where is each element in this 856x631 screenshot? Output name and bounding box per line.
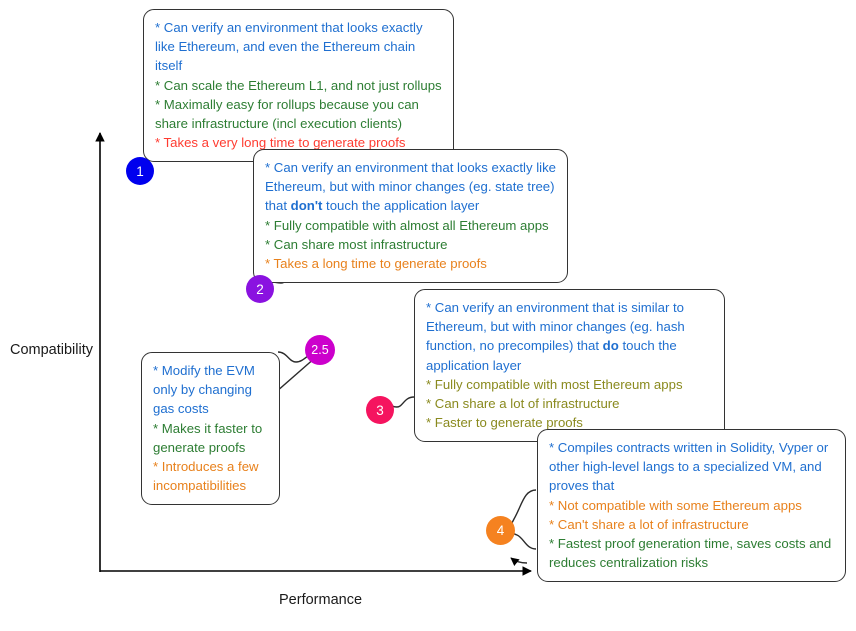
callout2_5-line-2: * Makes it faster to generate proofs — [153, 419, 268, 457]
callout2-line-1-part-b: touch the application layer — [322, 198, 479, 213]
callout-type-2_5: * Modify the EVM only by changing gas co… — [141, 352, 280, 505]
node-type-2_5-label: 2.5 — [311, 343, 328, 357]
callout2-line-1: * Can verify an environment that looks e… — [265, 158, 556, 216]
node-type-2[interactable]: 2 — [246, 275, 274, 303]
node-type-4-label: 4 — [497, 523, 505, 538]
callout-type-1: * Can verify an environment that looks e… — [143, 9, 454, 162]
callout1-line-1: * Can verify an environment that looks e… — [155, 18, 442, 76]
node-type-1[interactable]: 1 — [126, 157, 154, 185]
callout3-line-3: * Can share a lot of infrastructure — [426, 394, 713, 413]
node-type-4[interactable]: 4 — [486, 516, 515, 545]
callout2-line-3: * Can share most infrastructure — [265, 235, 556, 254]
callout2_5-line-3: * Introduces a few incompatibilities — [153, 457, 268, 495]
callout-type-3: * Can verify an environment that is simi… — [414, 289, 725, 442]
node-type-2_5[interactable]: 2.5 — [305, 335, 335, 365]
callout2-line-1-emphasis: don't — [291, 198, 323, 213]
x-axis-label: Performance — [279, 592, 362, 608]
callout3-line-1: * Can verify an environment that is simi… — [426, 298, 713, 375]
callout-type-4: * Compiles contracts written in Solidity… — [537, 429, 846, 582]
node-type-3[interactable]: 3 — [366, 396, 394, 424]
callout-type-2: * Can verify an environment that looks e… — [253, 149, 568, 283]
callout3-line-2: * Fully compatible with most Ethereum ap… — [426, 375, 713, 394]
callout1-line-2: * Can scale the Ethereum L1, and not jus… — [155, 76, 442, 95]
callout2-line-2: * Fully compatible with almost all Ether… — [265, 216, 556, 235]
diagram-canvas: Compatibility Performance * Can verify a… — [0, 0, 856, 631]
connector-node4-tail — [511, 558, 527, 563]
callout2-line-4: * Takes a long time to generate proofs — [265, 254, 556, 273]
callout4-line-2: * Not compatible with some Ethereum apps — [549, 496, 834, 515]
node-type-1-label: 1 — [136, 164, 144, 179]
node-type-3-label: 3 — [376, 403, 384, 418]
callout3-line-1-emphasis: do — [603, 338, 619, 353]
node-type-2-label: 2 — [256, 282, 264, 297]
callout1-line-3: * Maximally easy for rollups because you… — [155, 95, 442, 133]
y-axis-label: Compatibility — [10, 342, 93, 358]
callout2_5-line-1: * Modify the EVM only by changing gas co… — [153, 361, 268, 419]
callout4-line-3: * Can't share a lot of infrastructure — [549, 515, 834, 534]
callout4-line-1: * Compiles contracts written in Solidity… — [549, 438, 834, 496]
callout4-line-4: * Fastest proof generation time, saves c… — [549, 534, 834, 572]
